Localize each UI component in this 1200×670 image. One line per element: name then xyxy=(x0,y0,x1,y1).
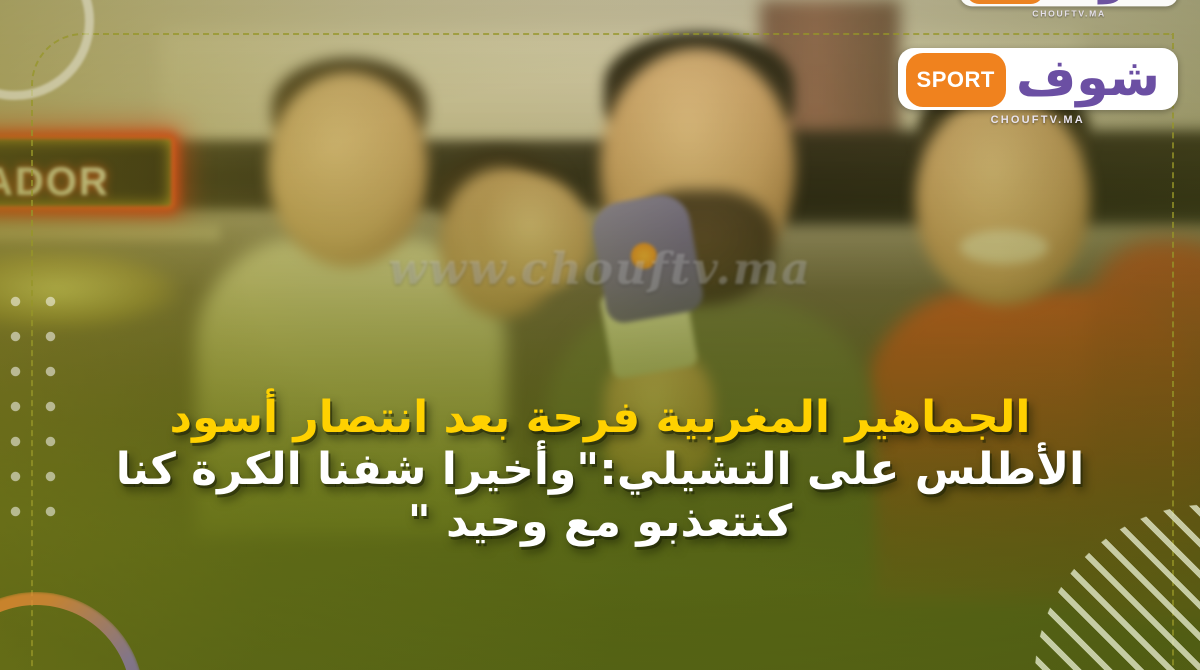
logo-card: SPORT شوف CHOUFTV.MA xyxy=(898,48,1178,110)
sport-badge: SPORT xyxy=(965,0,1043,4)
chouftv-url-label: CHOUFTV.MA xyxy=(898,114,1178,126)
chouftv-sport-logo[interactable]: SPORT شوف CHOUFTV.MA xyxy=(898,48,1178,110)
logo-card: SPORT شوف CHOUFTV.MA xyxy=(959,0,1178,6)
chouf-arabic-wordmark: شوف xyxy=(1010,53,1166,103)
thumbnail-card: ADOR www.chouftv.ma xyxy=(0,0,1200,670)
sport-badge: SPORT xyxy=(906,53,1006,107)
chouftv-url-label: CHOUFTV.MA xyxy=(959,9,1178,18)
chouf-arabic-wordmark: شوف xyxy=(1047,0,1169,1)
chouftv-sport-logo-top-cropped[interactable]: SPORT شوف CHOUFTV.MA xyxy=(959,0,1178,6)
